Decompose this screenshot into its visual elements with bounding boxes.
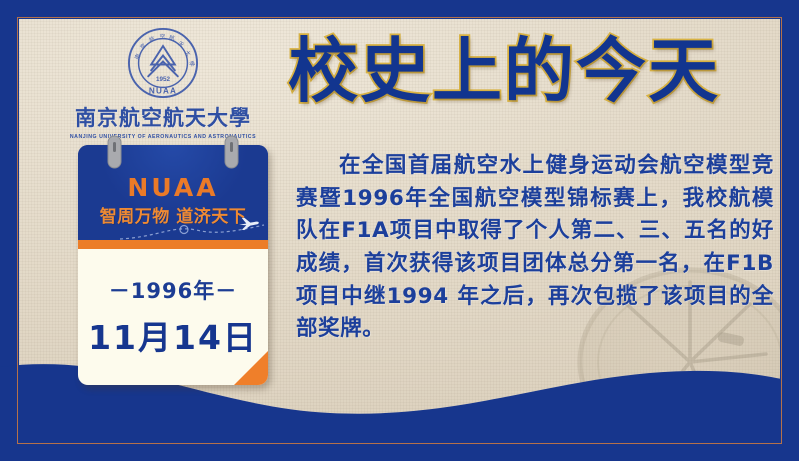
svg-text:京: 京 [138,41,148,51]
page-title: 校史上的今天 [288,36,720,106]
article-body: 在全国首届航空水上健身运动会航空模型竞赛暨1996年全国航空模型锦标赛上，我校航… [296,150,774,346]
svg-text:NUAA: NUAA [149,86,177,95]
nuaa-seal-icon: 1952 NUAA 南 京 航 空 航 天 大 學 [126,26,200,100]
poster-root: 1952 NUAA 南 京 航 空 航 天 大 學 南京航空航天大學 NANJI… [0,0,799,461]
svg-text:天: 天 [177,40,186,49]
svg-text:空: 空 [159,32,166,41]
calendar-card: NUAA 智周万物 道济天下 －1996年－ 11月14日 [78,145,268,385]
university-name-cn: 南京航空航天大學 [52,102,274,132]
calendar-body: －1996年－ 11月14日 [78,249,268,385]
university-logo-block: 1952 NUAA 南 京 航 空 航 天 大 學 南京航空航天大學 NANJI… [52,26,274,140]
calendar-binding-rings [78,134,268,174]
calendar-year: －1996年－ [109,275,237,305]
calendar-corner-fold [234,351,268,385]
svg-text:學: 學 [187,59,197,68]
calendar-day: 11月14日 [88,311,258,359]
calendar-brand: NUAA [78,173,268,202]
svg-text:大: 大 [183,48,193,58]
svg-text:1952: 1952 [156,76,170,83]
airplane-icon [238,215,260,231]
